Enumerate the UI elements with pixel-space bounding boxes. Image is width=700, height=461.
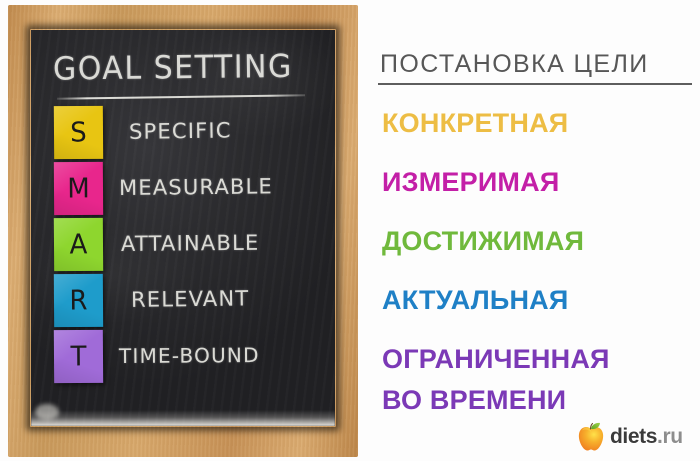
goal-attribute-relevant: АКТУАЛЬНАЯ (382, 285, 569, 316)
smart-word-relevant: RELEVANT (131, 269, 335, 328)
sticky-note-letter: T (70, 341, 86, 373)
sticky-note: R (54, 274, 103, 327)
board-title: GOAL SETTING (53, 48, 293, 88)
goal-attribute-time-bound-line1: ОГРАНИЧЕННАЯ (382, 344, 610, 375)
chalkboard-photo: GOAL SETTING S M A R T (8, 5, 358, 457)
sticky-note: A (54, 218, 103, 271)
sticky-note-letter: A (69, 229, 87, 261)
apple-icon (577, 422, 605, 452)
goal-attribute-attainable: ДОСТИЖИМАЯ (382, 226, 584, 257)
goal-attribute-specific: КОНКРЕТНАЯ (382, 108, 568, 139)
page-title: ПОСТАНОВКА ЦЕЛИ (380, 50, 649, 79)
smart-word-time-bound: TIME-BOUND (119, 326, 334, 383)
smart-word-attainable: ATTAINABLE (121, 214, 335, 272)
page-title-underline (378, 83, 692, 85)
watermark-name: diets (610, 425, 657, 448)
smart-word-measurable: MEASURABLE (119, 158, 335, 216)
russian-text-column: ПОСТАНОВКА ЦЕЛИ КОНКРЕТНАЯ ИЗМЕРИМАЯ ДОС… (376, 0, 694, 461)
sticky-note: M (54, 162, 103, 215)
sticky-note: S (54, 106, 103, 159)
sticky-note-letter: M (67, 173, 90, 205)
sticky-note: T (54, 330, 103, 383)
board-title-underline (57, 94, 305, 99)
goal-attribute-time-bound-line2: ВО ВРЕМЕНИ (382, 385, 566, 416)
chalkboard-slate: GOAL SETTING S M A R T (31, 30, 335, 426)
smart-word-list: SPECIFIC MEASURABLE ATTAINABLE RELEVANT … (119, 104, 334, 384)
sticky-notes-column: S M A R T (54, 106, 103, 386)
site-watermark[interactable]: diets.ru (577, 422, 683, 452)
chalk-dust-blob (35, 404, 59, 420)
goal-attribute-measurable: ИЗМЕРИМАЯ (382, 167, 559, 198)
sticky-note-letter: S (70, 117, 87, 149)
watermark-tld: .ru (657, 425, 683, 448)
sticky-note-letter: R (69, 285, 87, 317)
poster-root: GOAL SETTING S M A R T (0, 0, 700, 461)
chalk-dust (31, 410, 335, 426)
smart-word-specific: SPECIFIC (129, 101, 335, 160)
